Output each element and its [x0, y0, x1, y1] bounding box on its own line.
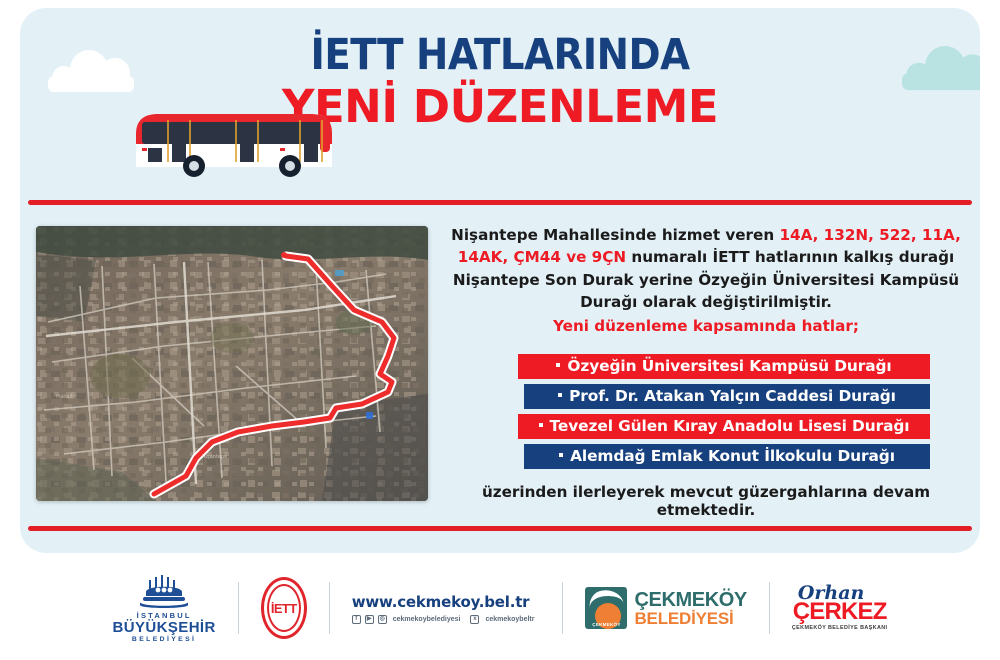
bullet-icon: [556, 363, 560, 367]
stop-item-4[interactable]: Alemdağ Emlak Konut İlkokulu Durağı: [524, 444, 930, 469]
stop-label: Özyeğin Üniversitesi Kampüsü Durağı: [567, 357, 891, 375]
ibb-line-2: BÜYÜKŞEHİR: [113, 620, 216, 636]
social-handle-main: cekmekoybelediyesi: [393, 616, 461, 623]
stop-label: Prof. Dr. Atakan Yalçın Caddesi Durağı: [569, 387, 896, 405]
footer-divider: [769, 582, 770, 634]
cekmekoy-belediyesi-logo-icon: ÇEKMEKÖY ÇEKMEKÖY BELEDİYESİ: [585, 587, 746, 629]
mayor-last-name: ÇERKEZ: [793, 600, 887, 624]
divider-top: [28, 200, 972, 205]
youtube-icon[interactable]: ▶: [365, 615, 374, 624]
mayor-role: ÇEKMEKÖY BELEDİYE BAŞKANI: [792, 626, 888, 631]
bus-side-view-icon: [132, 104, 342, 182]
announcement-paragraph: Nişantepe Mahallesinde hizmet veren 14A,…: [450, 224, 962, 338]
svg-text:Nişantepe: Nişantepe: [202, 454, 227, 460]
content-column: Nişantepe Mahallesinde hizmet veren 14A,…: [450, 224, 962, 519]
footer-divider: [329, 582, 330, 634]
ibb-line-3: BELEDİYESİ: [113, 636, 216, 643]
bullet-icon: [559, 453, 563, 457]
bullet-icon: [558, 393, 562, 397]
social-links: f ▶ ◎ cekmekoybelediyesi x cekmekoybeltr: [352, 615, 541, 624]
nisantepe-route-satellite-map: Nişantepe Mahalle: [36, 226, 428, 501]
twitter-x-icon[interactable]: x: [470, 615, 479, 624]
stop-list: Özyeğin Üniversitesi Kampüsü Durağı Prof…: [450, 354, 962, 469]
footer: İSTANBUL BÜYÜKŞEHİR BELEDİYESİ İETT www.…: [0, 558, 1000, 658]
stop-item-1[interactable]: Özyeğin Üniversitesi Kampüsü Durağı: [518, 354, 930, 379]
closing-text: üzerinden ilerleyerek mevcut güzergahlar…: [450, 483, 962, 519]
footer-divider: [562, 582, 563, 634]
poster-root: İETT HATLARINDA YENİ DÜZENLEME: [0, 0, 1000, 660]
cekmekoy-mark-caption: ÇEKMEKÖY: [585, 622, 627, 627]
announcement-card: İETT HATLARINDA YENİ DÜZENLEME: [20, 8, 980, 553]
stop-item-3[interactable]: Tevezel Gülen Kıray Anadolu Lisesi Durağ…: [518, 414, 930, 439]
stop-label: Alemdağ Emlak Konut İlkokulu Durağı: [570, 447, 895, 465]
footer-divider: [238, 582, 239, 634]
title-line-primary: İETT HATLARINDA: [20, 34, 980, 78]
svg-text:Mahalle: Mahalle: [56, 394, 75, 400]
stop-item-2[interactable]: Prof. Dr. Atakan Yalçın Caddesi Durağı: [524, 384, 930, 409]
website-url[interactable]: www.cekmekoy.bel.tr: [352, 593, 530, 611]
iett-label: İETT: [271, 601, 297, 616]
divider-bottom: [28, 526, 972, 531]
iett-logo-icon: İETT: [261, 577, 307, 639]
paragraph-part-1: Nişantepe Mahallesinde hizmet veren: [451, 226, 779, 244]
web-and-social: www.cekmekoy.bel.tr f ▶ ◎ cekmekoybeledi…: [352, 593, 541, 624]
social-handle-twitter: cekmekoybeltr: [485, 616, 534, 623]
bullet-icon: [539, 423, 543, 427]
stop-label: Tevezel Gülen Kıray Anadolu Lisesi Durağ…: [550, 417, 910, 435]
istanbul-buyuksehir-belediyesi-logo-icon: İSTANBUL BÜYÜKŞEHİR BELEDİYESİ: [113, 572, 216, 644]
instagram-icon[interactable]: ◎: [378, 615, 387, 624]
sub-headline: Yeni düzenleme kapsamında hatlar;: [450, 315, 962, 337]
mayor-signature-logo: Orhan ÇERKEZ ÇEKMEKÖY BELEDİYE BAŞKANI: [792, 584, 888, 631]
cekmekoy-word-1: ÇEKMEKÖY: [634, 590, 746, 610]
facebook-icon[interactable]: f: [352, 615, 361, 624]
cekmekoy-word-2: BELEDİYESİ: [634, 610, 746, 627]
